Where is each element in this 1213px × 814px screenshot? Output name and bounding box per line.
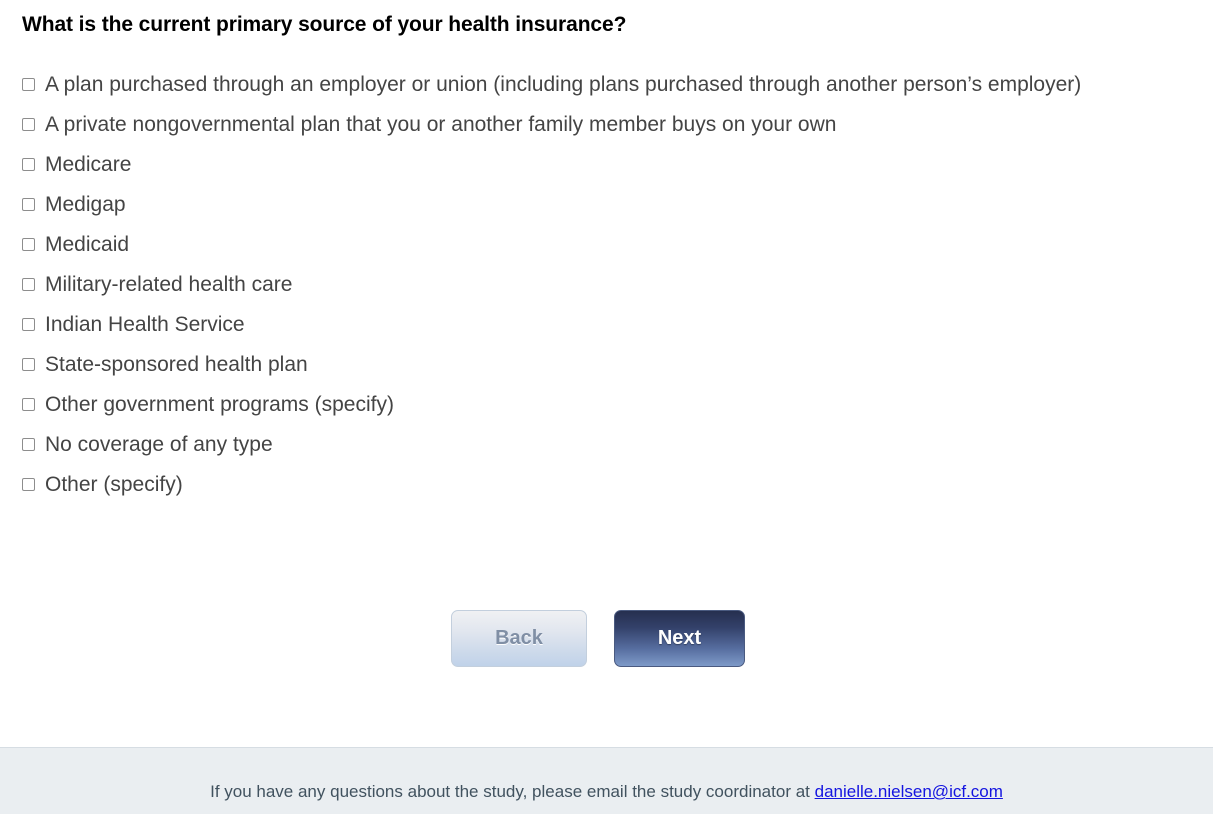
checkbox-military[interactable]: [22, 278, 35, 291]
checkbox-medicare[interactable]: [22, 158, 35, 171]
study-coordinator-email-link[interactable]: danielle.nielsen@icf.com: [815, 782, 1003, 801]
option-label-private-nongovernmental[interactable]: A private nongovernmental plan that you …: [45, 108, 1110, 141]
option-row-private-nongovernmental[interactable]: A private nongovernmental plan that you …: [22, 108, 1182, 141]
option-row-other-government[interactable]: Other government programs (specify): [22, 388, 1182, 421]
option-row-medicaid[interactable]: Medicaid: [22, 228, 1182, 261]
checkbox-other[interactable]: [22, 478, 35, 491]
option-row-state-sponsored[interactable]: State-sponsored health plan: [22, 348, 1182, 381]
checkbox-medigap[interactable]: [22, 198, 35, 211]
footer: If you have any questions about the stud…: [0, 747, 1213, 814]
option-label-medicaid[interactable]: Medicaid: [45, 228, 1110, 261]
option-row-medicare[interactable]: Medicare: [22, 148, 1182, 181]
footer-message-text: If you have any questions about the stud…: [210, 782, 815, 801]
option-row-other[interactable]: Other (specify): [22, 468, 1182, 501]
option-label-employer[interactable]: A plan purchased through an employer or …: [45, 68, 1110, 101]
checkbox-indian-health-service[interactable]: [22, 318, 35, 331]
footer-message: If you have any questions about the stud…: [0, 781, 1213, 803]
option-label-no-coverage[interactable]: No coverage of any type: [45, 428, 1110, 461]
option-label-other[interactable]: Other (specify): [45, 468, 1110, 501]
navigation-bar: Back Next: [0, 610, 1213, 668]
next-button[interactable]: Next: [614, 610, 745, 667]
option-row-employer[interactable]: A plan purchased through an employer or …: [22, 68, 1182, 101]
option-label-medicare[interactable]: Medicare: [45, 148, 1110, 181]
checkbox-employer[interactable]: [22, 78, 35, 91]
page-title: What is the current primary source of yo…: [22, 11, 1122, 39]
option-label-indian-health-service[interactable]: Indian Health Service: [45, 308, 1110, 341]
checkbox-private-nongovernmental[interactable]: [22, 118, 35, 131]
checkbox-medicaid[interactable]: [22, 238, 35, 251]
checkbox-state-sponsored[interactable]: [22, 358, 35, 371]
option-list: A plan purchased through an employer or …: [22, 68, 1182, 508]
option-label-medigap[interactable]: Medigap: [45, 188, 1110, 221]
checkbox-other-government[interactable]: [22, 398, 35, 411]
checkbox-no-coverage[interactable]: [22, 438, 35, 451]
survey-page: What is the current primary source of yo…: [0, 0, 1213, 814]
back-button[interactable]: Back: [451, 610, 587, 667]
option-row-no-coverage[interactable]: No coverage of any type: [22, 428, 1182, 461]
option-label-military[interactable]: Military-related health care: [45, 268, 1110, 301]
option-label-other-government[interactable]: Other government programs (specify): [45, 388, 1110, 421]
option-label-state-sponsored[interactable]: State-sponsored health plan: [45, 348, 1110, 381]
option-row-military[interactable]: Military-related health care: [22, 268, 1182, 301]
option-row-medigap[interactable]: Medigap: [22, 188, 1182, 221]
option-row-indian-health-service[interactable]: Indian Health Service: [22, 308, 1182, 341]
